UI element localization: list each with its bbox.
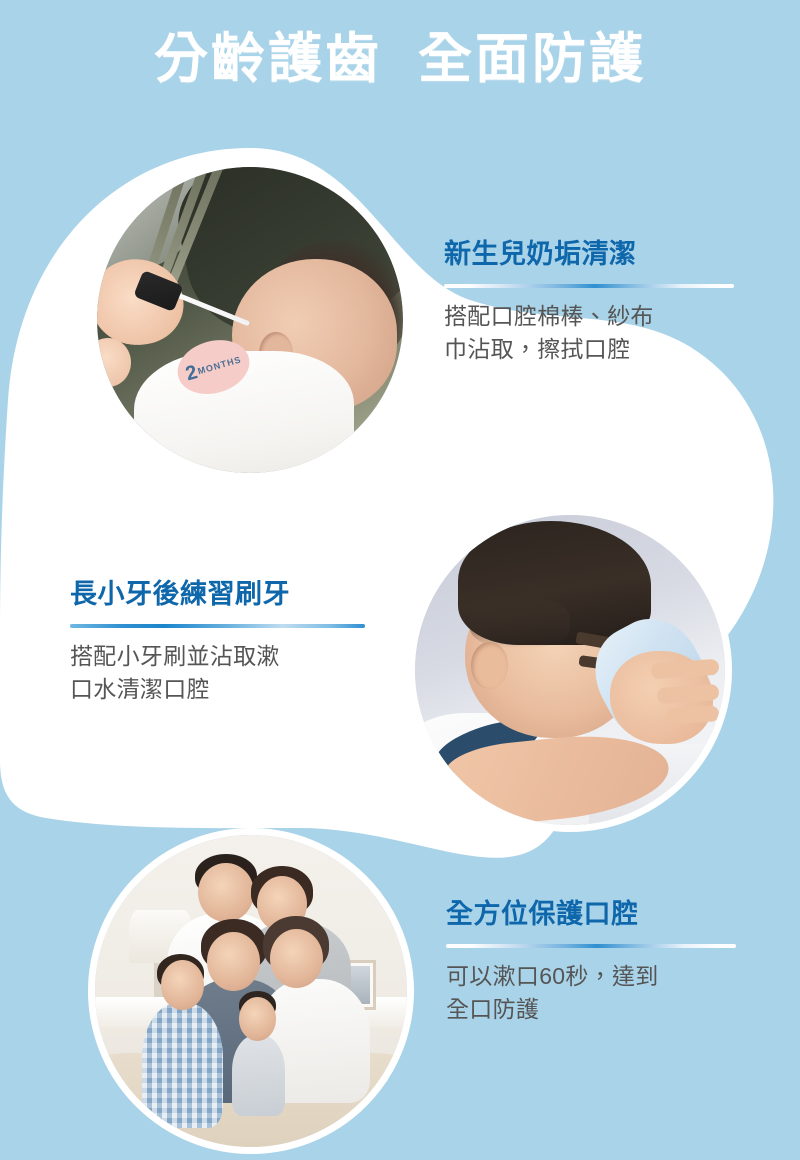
section-divider <box>444 284 734 288</box>
baby-scene: 2 MONTHS <box>97 167 403 473</box>
section-divider <box>70 624 365 628</box>
poster-root: 分齡護齒 全面防護 2 MONTHS <box>0 0 800 1160</box>
photo-baby-oral-swab: 2 MONTHS <box>90 160 410 480</box>
photo-family-portrait <box>88 828 414 1154</box>
infant-body <box>232 1035 285 1116</box>
family-scene <box>95 835 407 1147</box>
child-head <box>161 960 205 1010</box>
section-heading-toddler: 長小牙後練習刷牙 <box>70 578 390 610</box>
section-newborn: 新生兒奶垢清潔 搭配口腔棉棒、紗布 巾沾取，擦拭口腔 <box>444 238 754 366</box>
section-heading-allages: 全方位保護口腔 <box>446 898 756 930</box>
section-heading-newborn: 新生兒奶垢清潔 <box>444 238 754 270</box>
photo-boy-drinking <box>408 508 732 832</box>
section-body-toddler: 搭配小牙刷並沾取漱 口水清潔口腔 <box>70 640 390 705</box>
section-divider <box>446 944 736 948</box>
baby-age-unit: MONTHS <box>196 355 242 377</box>
section-allages: 全方位保護口腔 可以漱口60秒，達到 全口防護 <box>446 898 756 1026</box>
grandmother-left-head <box>207 932 260 991</box>
child-body <box>142 1003 223 1128</box>
grandmother-right-head <box>270 929 323 988</box>
boy-hair <box>458 521 650 645</box>
section-body-newborn: 搭配口腔棉棒、紗布 巾沾取，擦拭口腔 <box>444 300 754 365</box>
page-title: 分齡護齒 全面防護 <box>0 28 800 91</box>
boy-ear <box>471 642 508 689</box>
section-body-allages: 可以漱口60秒，達到 全口防護 <box>446 960 756 1025</box>
section-toddler: 長小牙後練習刷牙 搭配小牙刷並沾取漱 口水清潔口腔 <box>70 578 390 706</box>
infant-head <box>239 997 276 1041</box>
boy-scene <box>415 515 725 825</box>
father-head <box>198 863 254 922</box>
